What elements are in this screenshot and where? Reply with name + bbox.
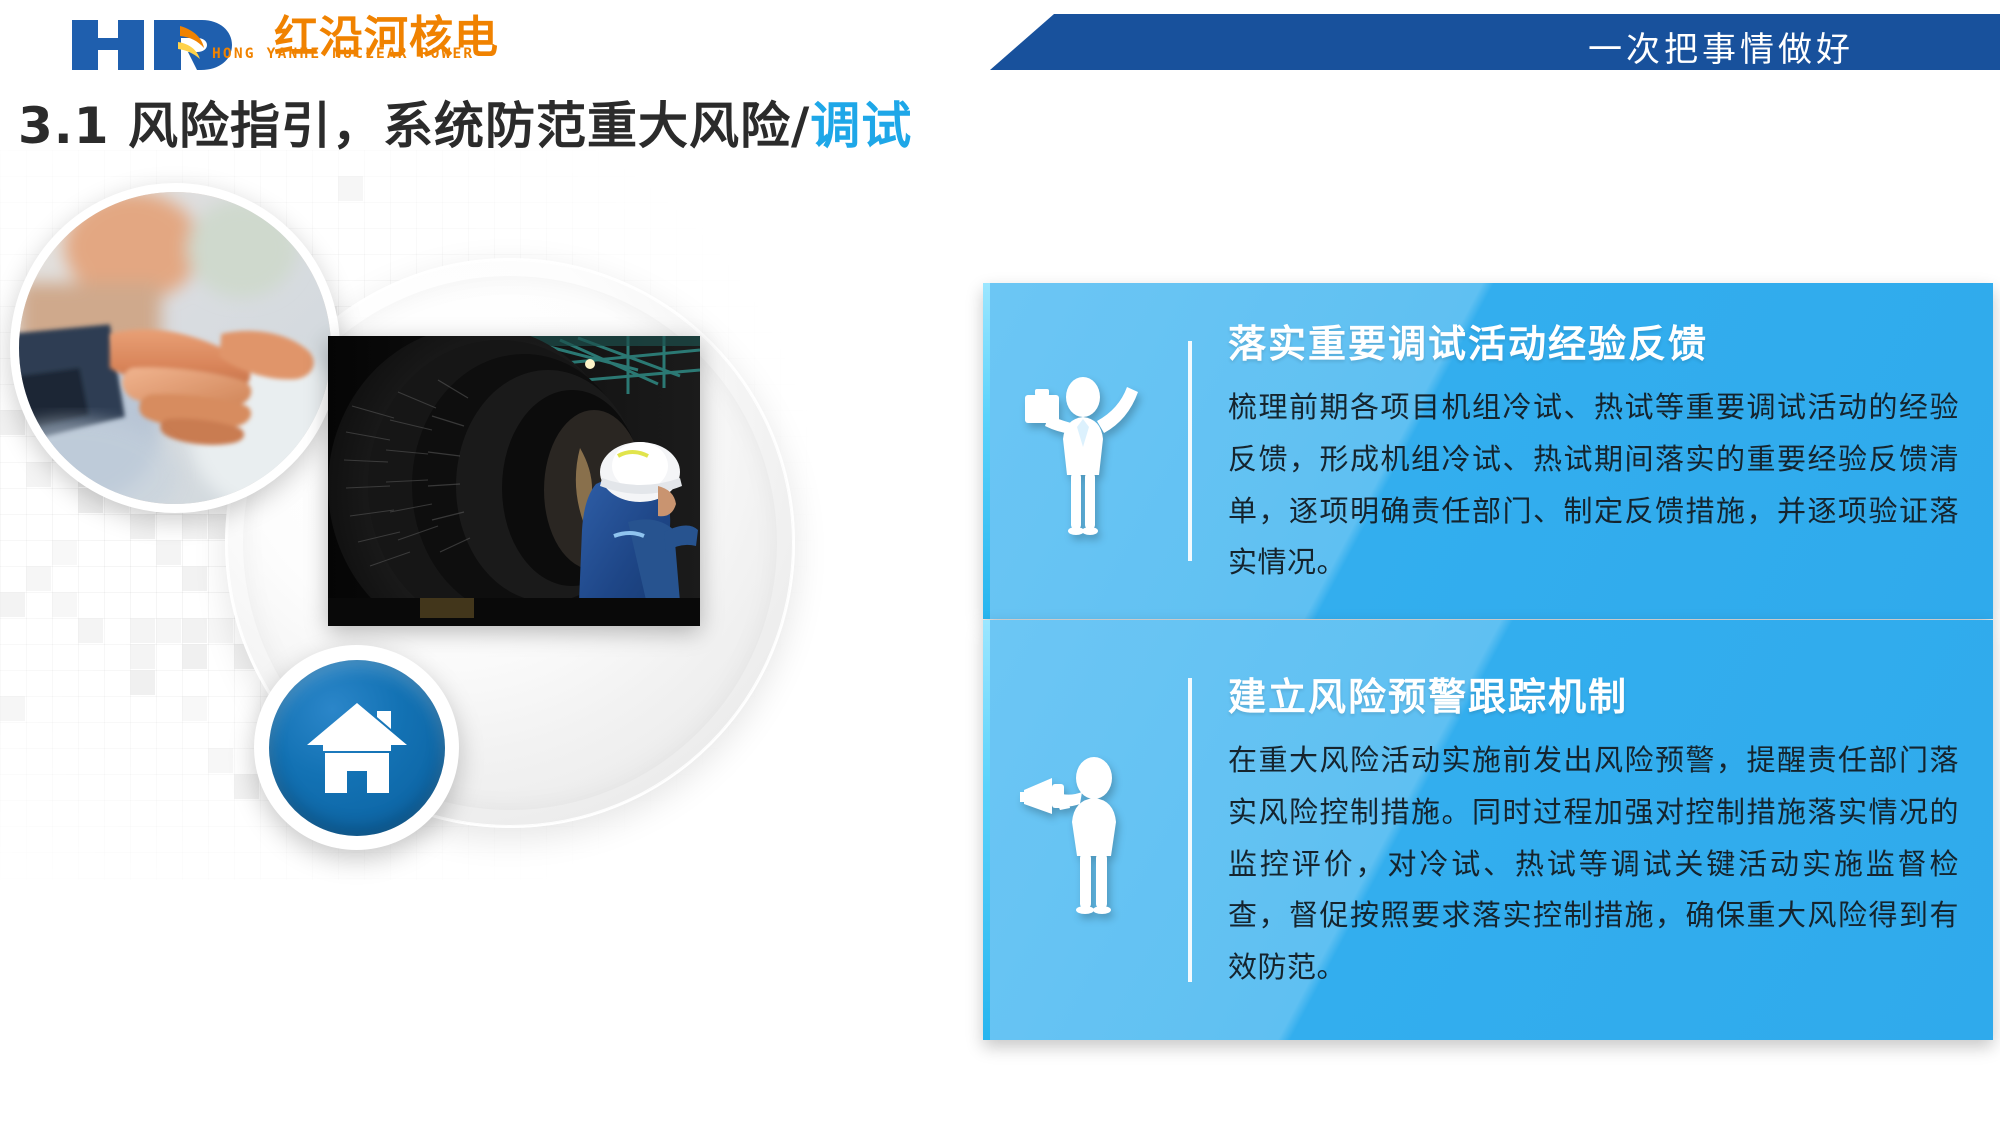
card-1-body: 落实重要调试活动经验反馈 梳理前期各项目机组冷试、热试等重要调试活动的经验反馈，… xyxy=(1192,313,1993,588)
card-1-icon-wrap xyxy=(983,367,1188,535)
home-button[interactable] xyxy=(254,645,459,850)
logo-hp-mark-icon xyxy=(68,16,268,74)
card-risk-warning-mechanism[interactable]: 建立风险预警跟踪机制 在重大风险活动实施前发出风险预警，提醒责任部门落实风险控制… xyxy=(983,620,1993,1040)
handshake-image xyxy=(19,192,331,504)
page-title-accent: 调试 xyxy=(810,97,912,155)
turbine-image xyxy=(328,336,700,626)
page-title: 3.1 风险指引，系统防范重大风险/调试 xyxy=(18,86,912,158)
card-2-title: 建立风险预警跟踪机制 xyxy=(1228,666,1959,721)
person-with-megaphone-icon xyxy=(1018,746,1154,914)
page-title-main: 3.1 风险指引，系统防范重大风险/ xyxy=(18,97,810,155)
logo-english-name: HONG YANHE NUCLEAR POWER xyxy=(212,46,474,62)
card-1-title: 落实重要调试活动经验反馈 xyxy=(1228,313,1959,368)
slide-root: 一次把事情做好 红沿河核电 HONG YANHE NUCLEAR POWER 3… xyxy=(0,0,2000,1125)
card-experience-feedback[interactable]: 落实重要调试活动经验反馈 梳理前期各项目机组冷试、热试等重要调试活动的经验反馈，… xyxy=(983,283,1993,619)
card-2-icon-wrap xyxy=(983,746,1188,914)
home-icon xyxy=(305,699,409,797)
content-cards: 落实重要调试活动经验反馈 梳理前期各项目机组冷试、热试等重要调试活动的经验反馈，… xyxy=(983,0,2000,1125)
card-2-text: 在重大风险活动实施前发出风险预警，提醒责任部门落实风险控制措施。同时过程加强对控… xyxy=(1228,735,1959,993)
turbine-worker-photo xyxy=(328,336,700,626)
card-2-body: 建立风险预警跟踪机制 在重大风险活动实施前发出风险预警，提醒责任部门落实风险控制… xyxy=(1192,666,1993,993)
company-logo: 红沿河核电 xyxy=(68,16,499,74)
handshake-photo xyxy=(10,183,340,513)
person-raising-hand-with-briefcase-icon xyxy=(1021,367,1151,535)
card-1-text: 梳理前期各项目机组冷试、热试等重要调试活动的经验反馈，形成机组冷试、热试期间落实… xyxy=(1228,382,1959,588)
home-button-disc[interactable] xyxy=(269,660,445,836)
